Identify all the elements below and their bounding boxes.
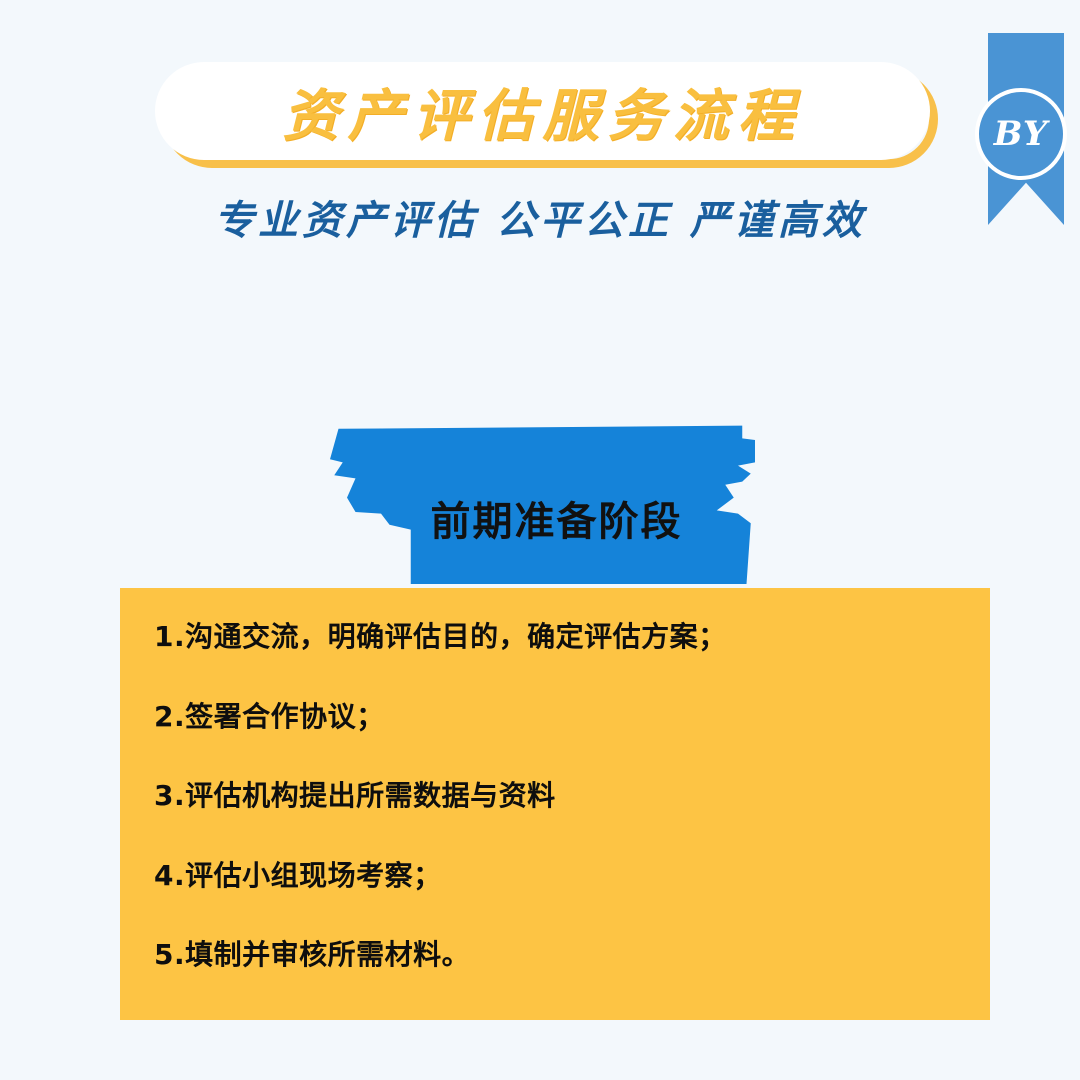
stage-banner-label: 前期准备阶段 (330, 424, 755, 584)
steps-panel: 1.沟通交流，明确评估目的，确定评估方案； 2.签署合作协议； 3.评估机构提出… (120, 588, 990, 1020)
list-item: 1.沟通交流，明确评估目的，确定评估方案； (154, 620, 956, 654)
step-list: 1.沟通交流，明确评估目的，确定评估方案； 2.签署合作协议； 3.评估机构提出… (154, 620, 956, 972)
list-item: 3.评估机构提出所需数据与资料 (154, 779, 956, 813)
page-title: 资产评估服务流程 (155, 62, 930, 160)
badge-initials: BY (994, 117, 1048, 151)
poster-canvas: 资产评估服务流程 专业资产评估 公平公正 严谨高效 BY 前期准备阶段 1.沟通… (0, 0, 1080, 1080)
badge-seal-icon: BY (975, 88, 1067, 180)
list-item: 2.签署合作协议； (154, 700, 956, 734)
list-item: 5.填制并审核所需材料。 (154, 938, 956, 972)
list-item: 4.评估小组现场考察； (154, 859, 956, 893)
page-subtitle: 专业资产评估 公平公正 严谨高效 (0, 188, 1080, 246)
header-section: 资产评估服务流程 专业资产评估 公平公正 严谨高效 BY (0, 0, 1080, 270)
